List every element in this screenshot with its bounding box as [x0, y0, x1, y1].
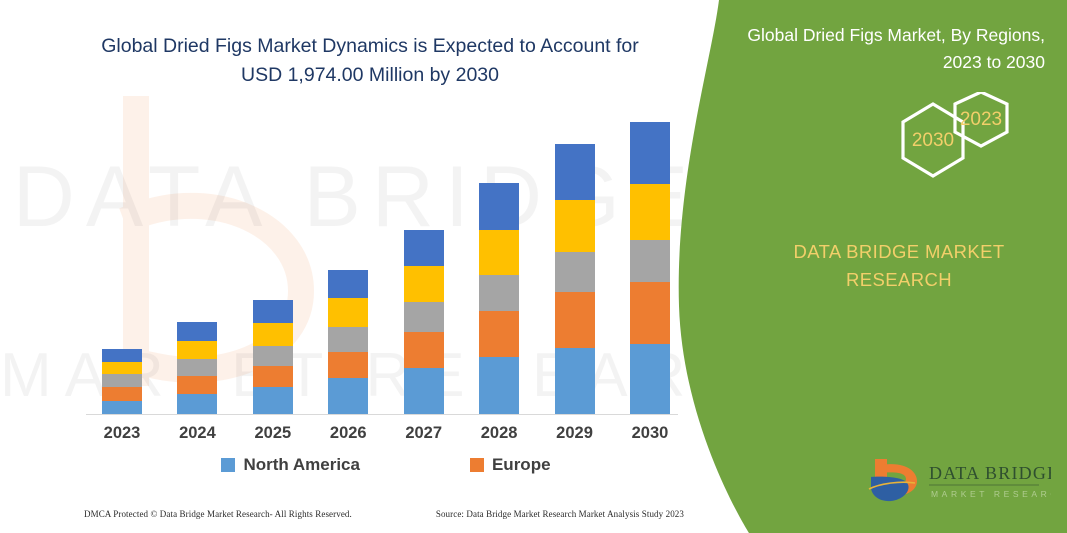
bar-segment	[253, 387, 293, 414]
stacked-bar	[404, 230, 444, 414]
bar-segment	[102, 349, 142, 362]
stacked-bar	[328, 270, 368, 414]
x-axis-labels: 20232024202520262027202820292030	[86, 424, 686, 443]
infographic-canvas: DATA BRIDGE MARKET RESEARCH Global Dried…	[0, 0, 1067, 533]
stacked-bar	[102, 349, 142, 414]
bar-segment	[630, 344, 670, 414]
hexagon-label-2023: 2023	[960, 109, 1002, 130]
data-bridge-logo: DATA BRIDGE MARKET RESEARCH	[861, 455, 1051, 507]
bar-segment	[328, 352, 368, 378]
x-axis-label-2029: 2029	[539, 424, 611, 443]
bar-segment	[328, 327, 368, 352]
bar-column-2028	[463, 110, 535, 414]
legend-item-europe[interactable]: Europe	[470, 455, 551, 475]
logo-tagline: MARKET RESEARCH	[931, 489, 1051, 499]
page-title-line-1: Global Dried Figs Market Dynamics is Exp…	[60, 32, 680, 61]
panel-title: Global Dried Figs Market, By Regions, 20…	[725, 22, 1045, 76]
x-axis-label-2023: 2023	[86, 424, 158, 443]
bar-column-2023	[86, 110, 158, 414]
page-title: Global Dried Figs Market Dynamics is Exp…	[60, 32, 680, 90]
bar-segment	[102, 362, 142, 375]
legend-label: North America	[243, 455, 360, 475]
bar-segment	[404, 266, 444, 302]
bar-segment	[479, 230, 519, 275]
x-axis-label-2030: 2030	[614, 424, 686, 443]
bar-segment	[404, 368, 444, 414]
bar-segment	[253, 346, 293, 366]
bar-segment	[253, 300, 293, 323]
bar-segment	[404, 332, 444, 368]
bar-segment	[328, 298, 368, 326]
bar-segment	[479, 311, 519, 357]
panel-brand-line-1: DATA BRIDGE MARKET	[769, 238, 1029, 266]
bar-segment	[102, 374, 142, 387]
bar-segment	[177, 376, 217, 394]
stacked-bar-chart	[86, 110, 686, 414]
x-axis-label-2026: 2026	[312, 424, 384, 443]
bar-segment	[555, 348, 595, 414]
stacked-bar	[479, 183, 519, 414]
bar-segment	[630, 240, 670, 282]
page-title-line-2: USD 1,974.00 Million by 2030	[60, 61, 680, 90]
bar-segment	[479, 275, 519, 311]
panel-brand: DATA BRIDGE MARKET RESEARCH	[769, 238, 1029, 294]
x-axis-label-2027: 2027	[388, 424, 460, 443]
bar-segment	[630, 282, 670, 344]
x-axis-label-2028: 2028	[463, 424, 535, 443]
bar-column-2030	[614, 110, 686, 414]
panel-title-line-1: Global Dried Figs Market, By Regions,	[725, 22, 1045, 49]
panel-title-line-2: 2023 to 2030	[725, 49, 1045, 76]
footer-copyright: DMCA Protected © Data Bridge Market Rese…	[84, 509, 352, 519]
logo-name: DATA BRIDGE	[929, 463, 1051, 483]
bar-column-2025	[237, 110, 309, 414]
bar-segment	[328, 270, 368, 298]
bar-segment	[253, 366, 293, 387]
hexagon-label-2030: 2030	[912, 130, 954, 151]
bar-segment	[555, 200, 595, 253]
bar-segment	[555, 292, 595, 348]
stacked-bar	[630, 122, 670, 414]
square-swatch-blue	[221, 458, 235, 472]
bar-segment	[555, 144, 595, 200]
logo-mark-icon	[869, 459, 917, 501]
bar-segment	[328, 378, 368, 414]
panel-brand-line-2: RESEARCH	[769, 266, 1029, 294]
bar-segment	[404, 230, 444, 266]
stacked-bar	[253, 300, 293, 414]
bar-segment	[479, 357, 519, 414]
bar-segment	[253, 323, 293, 346]
x-axis-label-2025: 2025	[237, 424, 309, 443]
bar-segment	[630, 184, 670, 240]
bar-column-2027	[388, 110, 460, 414]
bar-segment	[102, 401, 142, 414]
x-axis-line	[86, 414, 678, 415]
stacked-bar	[555, 144, 595, 414]
bar-segment	[177, 394, 217, 414]
bar-column-2026	[312, 110, 384, 414]
footer: DMCA Protected © Data Bridge Market Rese…	[84, 509, 684, 519]
chart-legend: North AmericaEurope	[86, 455, 686, 475]
bar-segment	[102, 387, 142, 402]
hexagon-badges: 2030 2023	[851, 92, 1031, 202]
footer-source: Source: Data Bridge Market Research Mark…	[436, 509, 684, 519]
bar-segment	[555, 252, 595, 292]
bar-segment	[177, 341, 217, 360]
bar-column-2029	[539, 110, 611, 414]
bar-segment	[177, 322, 217, 341]
stacked-bar	[177, 322, 217, 414]
x-axis-label-2024: 2024	[161, 424, 233, 443]
bar-segment	[630, 122, 670, 184]
bar-segment	[479, 183, 519, 230]
bar-segment	[404, 302, 444, 332]
bar-segment	[177, 359, 217, 376]
bar-column-2024	[161, 110, 233, 414]
legend-label: Europe	[492, 455, 551, 475]
square-swatch-orange	[470, 458, 484, 472]
legend-item-north-america[interactable]: North America	[221, 455, 360, 475]
